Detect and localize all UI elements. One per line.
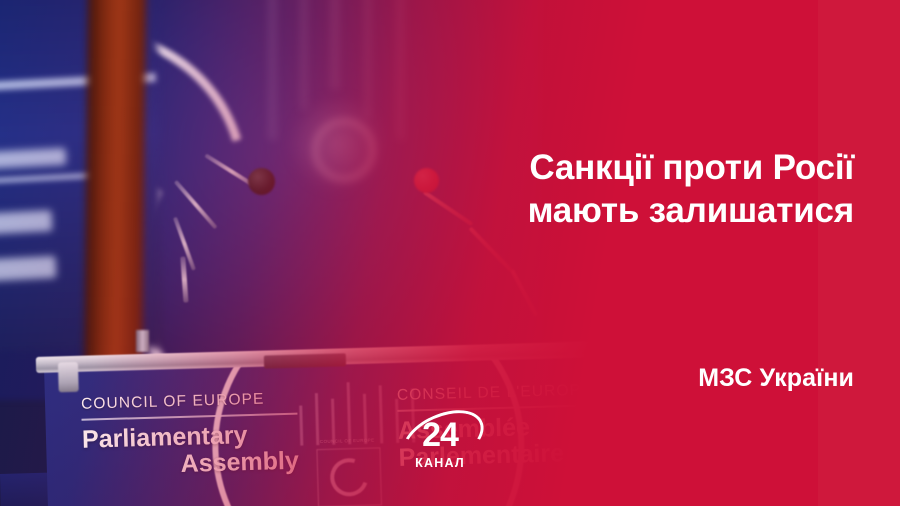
cover-image: COUNCIL OF EUROPE CONSEIL DE L'EUROPE CO… [0, 0, 900, 506]
red-edge-band [818, 0, 900, 506]
logo-number: 24 [398, 418, 482, 452]
channel-24-logo[interactable]: 24 КАНАЛ [398, 412, 482, 476]
headline-line-2: мають залишатися [334, 189, 854, 232]
attribution-text: МЗС України [434, 364, 854, 393]
headline-line-1: Санкції проти Росії [334, 146, 854, 189]
logo-word: КАНАЛ [398, 456, 482, 470]
headline: Санкції проти Росії мають залишатися [334, 146, 854, 233]
